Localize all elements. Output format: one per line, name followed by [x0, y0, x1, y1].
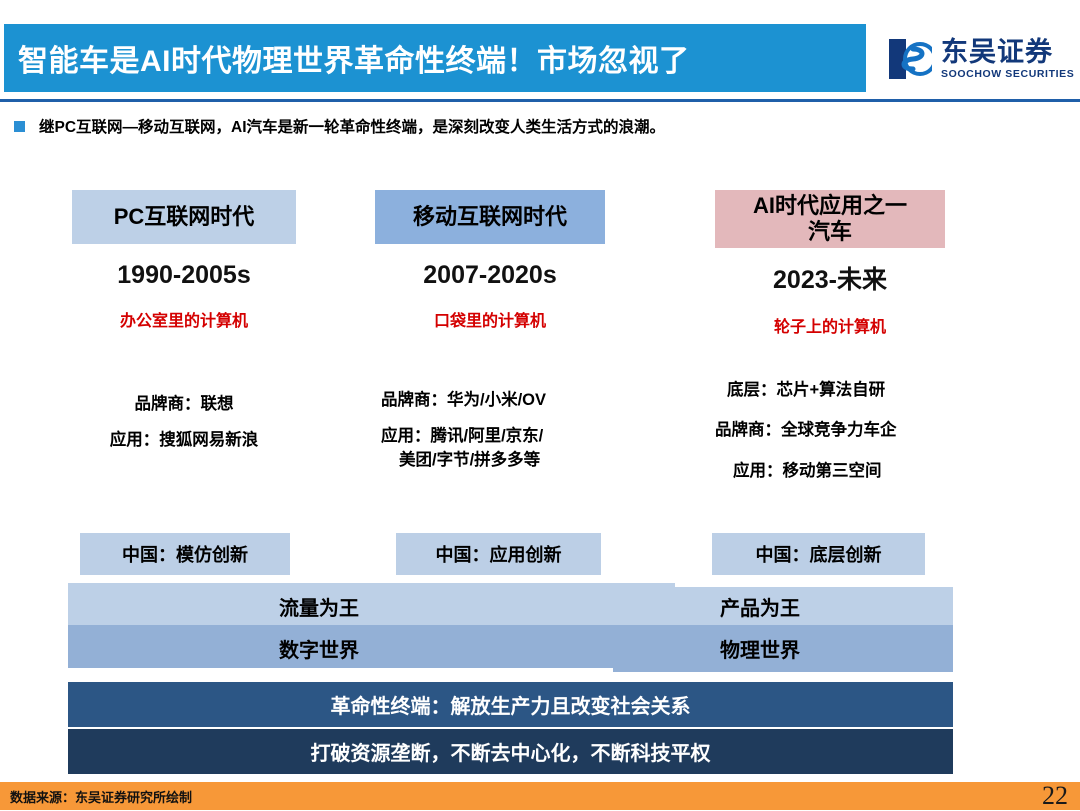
column-mobile-era: 移动互联网时代 2007-2020s 口袋里的计算机 品牌商：华为/小米/OV …	[375, 190, 605, 472]
column-3-details: 底层：芯片+算法自研 品牌商：全球竞争力车企 应用：移动第三空间	[715, 379, 945, 483]
band-row4-label: 打破资源垄断，不断去中心化，不断科技平权	[311, 737, 711, 766]
column-ai-era: AI时代应用之一 汽车 2023-未来 轮子上的计算机 底层：芯片+算法自研 品…	[715, 190, 945, 483]
band-row1-left-bg	[68, 583, 675, 625]
band-row2-left-label: 数字世界	[279, 634, 359, 663]
column-2-detail-2: 美团/字节/拼多多等	[381, 449, 605, 472]
band-row3: 革命性终端：解放生产力且改变社会关系	[68, 682, 953, 727]
column-1-details: 品牌商：联想 应用：搜狐网易新浪	[72, 393, 296, 453]
band-row4: 打破资源垄断，不断去中心化，不断科技平权	[68, 729, 953, 774]
slide-root: 智能车是AI时代物理世界革命性终端！市场忽视了 东吴证券 SOOCHOW SEC…	[0, 0, 1080, 810]
column-2-tagline: 口袋里的计算机	[375, 307, 605, 331]
column-3-detail-0: 底层：芯片+算法自研	[715, 379, 945, 402]
column-2-era: 2007-2020s	[375, 261, 605, 290]
slide-title-bar: 智能车是AI时代物理世界革命性终端！市场忽视了	[4, 24, 866, 92]
lead-bullet: 继PC互联网—移动互联网，AI汽车是新一轮革命性终端，是深刻改变人类生活方式的浪…	[14, 113, 1064, 139]
logo-text-block: 东吴证券 SOOCHOW SECURITIES	[941, 38, 1074, 80]
column-3-tagline: 轮子上的计算机	[715, 313, 945, 337]
logo-name-en: SOOCHOW SECURITIES	[941, 68, 1074, 80]
soochow-s-mark-icon	[886, 36, 932, 82]
band-row3-label: 革命性终端：解放生产力且改变社会关系	[331, 690, 691, 719]
column-3-china-box: 中国：底层创新	[712, 533, 925, 575]
band-row2-right-label: 物理世界	[720, 634, 800, 663]
header-divider	[0, 99, 1080, 102]
footer-source-text: 数据来源：东吴证券研究所绘制	[0, 787, 192, 806]
page-number: 22	[1042, 781, 1068, 811]
column-2-detail-1: 应用：腾讯/阿里/京东/	[381, 425, 605, 448]
column-1-tagline: 办公室里的计算机	[72, 307, 296, 331]
band-row1-right-label: 产品为王	[720, 592, 800, 621]
column-2-header: 移动互联网时代	[375, 190, 605, 244]
column-2-detail-0: 品牌商：华为/小米/OV	[381, 389, 605, 412]
logo-name-cn: 东吴证券	[941, 38, 1074, 66]
band-row2-left-bg	[68, 625, 675, 668]
lead-bullet-text: 继PC互联网—移动互联网，AI汽车是新一轮革命性终端，是深刻改变人类生活方式的浪…	[39, 115, 665, 137]
column-3-header: AI时代应用之一 汽车	[715, 190, 945, 248]
column-3-header-line-2: 汽车	[808, 219, 852, 245]
column-1-china-box: 中国：模仿创新	[80, 533, 290, 575]
column-3-detail-1: 品牌商：全球竞争力车企	[715, 419, 945, 442]
slide-footer: 数据来源：东吴证券研究所绘制 22	[0, 782, 1080, 810]
column-2-china-box: 中国：应用创新	[396, 533, 601, 575]
column-3-detail-2: 应用：移动第三空间	[715, 460, 945, 483]
page-title: 智能车是AI时代物理世界革命性终端！市场忽视了	[4, 36, 690, 80]
column-3-header-line-1: AI时代应用之一	[753, 193, 907, 219]
column-1-detail-1: 应用：搜狐网易新浪	[72, 429, 296, 452]
band-row1-left-label: 流量为王	[279, 592, 359, 621]
column-1-era: 1990-2005s	[72, 261, 296, 290]
column-1-detail-0: 品牌商：联想	[72, 393, 296, 416]
square-bullet-icon	[14, 121, 25, 132]
company-logo: 东吴证券 SOOCHOW SECURITIES	[886, 28, 1076, 90]
column-1-header: PC互联网时代	[72, 190, 296, 244]
column-2-details: 品牌商：华为/小米/OV 应用：腾讯/阿里/京东/ 美团/字节/拼多多等	[375, 389, 605, 472]
column-pc-era: PC互联网时代 1990-2005s 办公室里的计算机 品牌商：联想 应用：搜狐…	[72, 190, 296, 453]
column-3-era: 2023-未来	[715, 260, 945, 296]
